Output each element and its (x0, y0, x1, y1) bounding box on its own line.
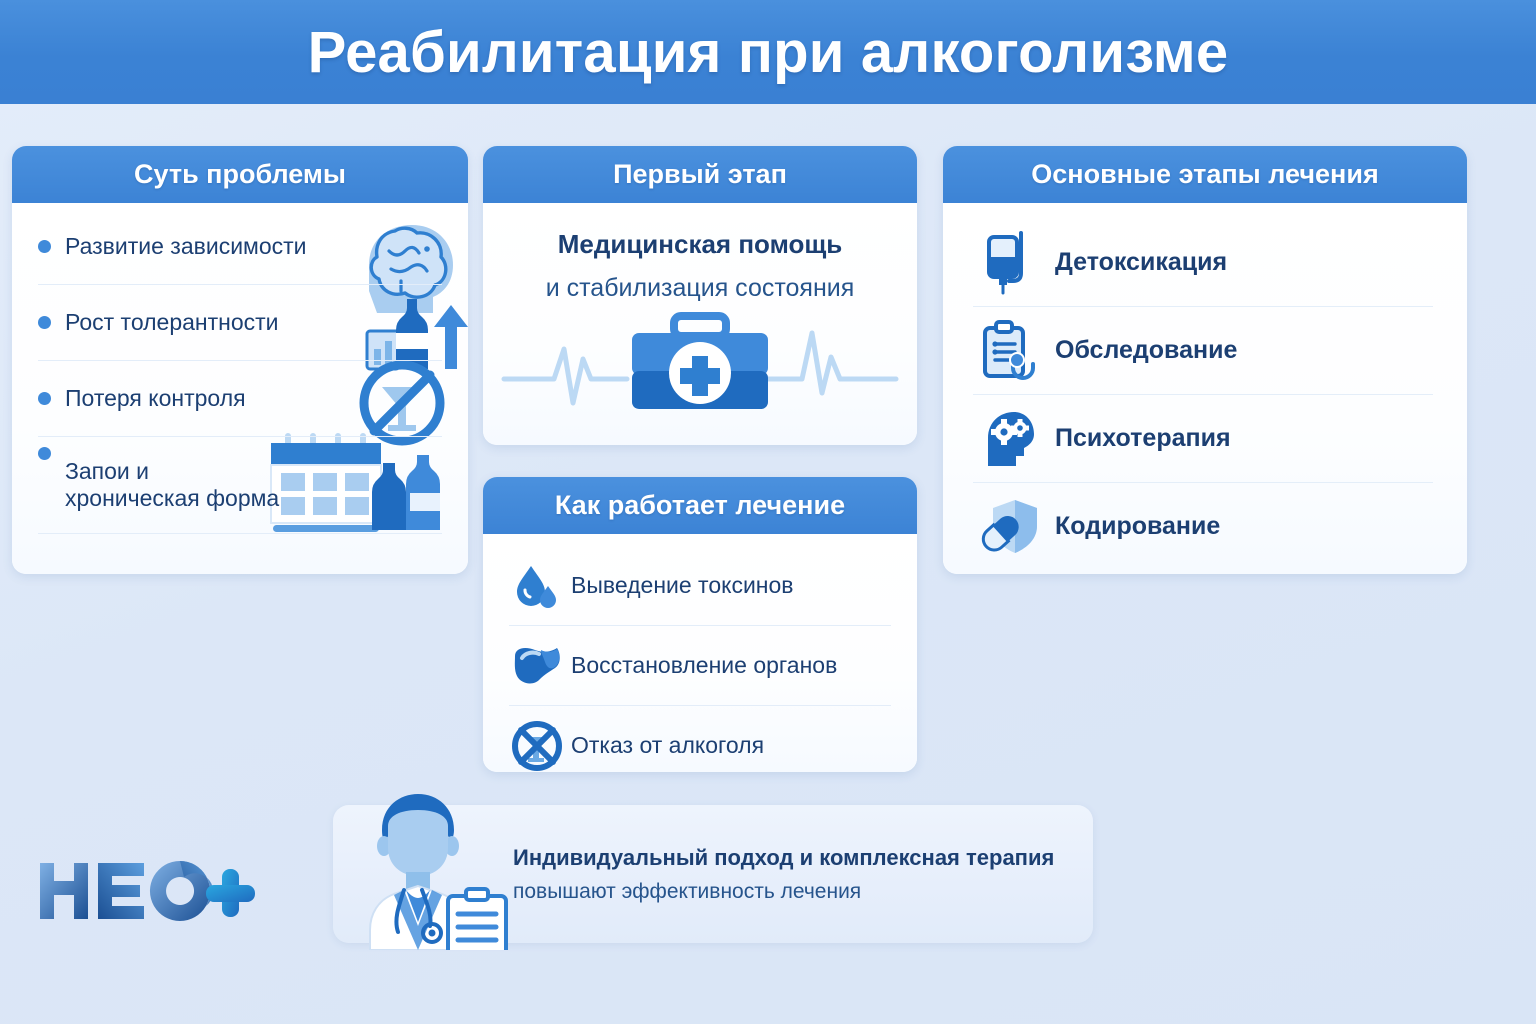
stage-item-label: Детоксикация (1055, 248, 1227, 277)
card-problem-body: Развитие зависимости Рост толерантности … (12, 203, 468, 574)
how-item-label: Выведение токсинов (571, 572, 794, 599)
card-main-stages: Основные этапы лечения Детоксикация (943, 146, 1467, 574)
list-item[interactable]: Развитие зависимости (38, 209, 442, 285)
problem-item-label-line2: хроническая форма (65, 485, 279, 512)
card-first-stage: Первый этап Медицинская помощь и стабили… (483, 146, 917, 445)
page-title: Реабилитация при алкоголизме (308, 19, 1229, 86)
problem-item-label: Развитие зависимости (65, 233, 307, 260)
how-item-label: Отказ от алкоголя (571, 732, 764, 759)
neo-plus-logo[interactable]: НЕО+ (36, 855, 256, 927)
bullet-icon (38, 447, 51, 460)
list-item[interactable]: Обследование (973, 307, 1433, 395)
page-header: Реабилитация при алкоголизме (0, 0, 1536, 104)
banner-line1: Индивидуальный подход и комплексная тера… (513, 845, 1054, 871)
bullet-icon (38, 316, 51, 329)
problem-list: Развитие зависимости Рост толерантности … (12, 203, 468, 534)
card-how-body: Выведение токсинов Восстановление органо… (483, 534, 917, 772)
first-stage-text: Медицинская помощь и стабилизация состоя… (483, 203, 917, 303)
card-how-treatment-works: Как работает лечение Выведение токсинов (483, 477, 917, 772)
problem-item-label: Потеря контроля (65, 385, 246, 412)
list-item[interactable]: Отказ от алкоголя (509, 706, 891, 772)
card-main-stages-title: Основные этапы лечения (943, 146, 1467, 203)
list-item[interactable]: Восстановление органов (509, 626, 891, 706)
list-item[interactable]: Потеря контроля (38, 361, 442, 437)
clipboard-stethoscope-icon (973, 320, 1047, 382)
stage-item-label: Обследование (1055, 336, 1237, 365)
card-problem-title: Суть проблемы (12, 146, 468, 203)
list-item[interactable]: Выведение токсинов (509, 546, 891, 626)
liver-icon (509, 644, 565, 688)
bullet-icon (38, 240, 51, 253)
iv-drip-icon (973, 231, 1047, 295)
list-item[interactable]: Детоксикация (973, 219, 1433, 307)
banner-text: Индивидуальный подход и комплексная тера… (513, 845, 1054, 904)
how-item-label: Восстановление органов (571, 652, 837, 679)
card-first-stage-body: Медицинская помощь и стабилизация состоя… (483, 203, 917, 445)
card-main-stages-body: Детоксикация (943, 203, 1467, 574)
head-gears-icon (973, 408, 1047, 470)
first-aid-kit-ecg-icon (483, 311, 917, 421)
no-alcohol-circle-icon (509, 720, 565, 772)
banner-line2: повышают эффективность лечения (513, 880, 1054, 904)
list-item[interactable]: Психотерапия (973, 395, 1433, 483)
card-problem: Суть проблемы (12, 146, 468, 574)
water-drop-icon (509, 562, 565, 610)
problem-item-label: Рост толерантности (65, 309, 279, 336)
infographic-root: Реабилитация при алкоголизме Суть пробле… (0, 0, 1536, 1024)
list-item[interactable]: Запои и хроническая форма (38, 437, 442, 534)
pill-shield-icon (973, 497, 1047, 557)
problem-item-label-line1: Запои и (65, 458, 279, 485)
first-stage-line2: и стабилизация состояния (483, 274, 917, 303)
first-stage-line1: Медицинская помощь (483, 229, 917, 260)
bullet-icon (38, 392, 51, 405)
list-item[interactable]: Рост толерантности (38, 285, 442, 361)
card-how-title: Как работает лечение (483, 477, 917, 534)
stage-item-label: Психотерапия (1055, 424, 1231, 453)
stage-item-label: Кодирование (1055, 512, 1220, 541)
card-first-stage-title: Первый этап (483, 146, 917, 203)
list-item[interactable]: Кодирование (973, 483, 1433, 570)
problem-item-label-multiline: Запои и хроническая форма (65, 458, 279, 512)
doctor-clipboard-icon (348, 790, 518, 950)
